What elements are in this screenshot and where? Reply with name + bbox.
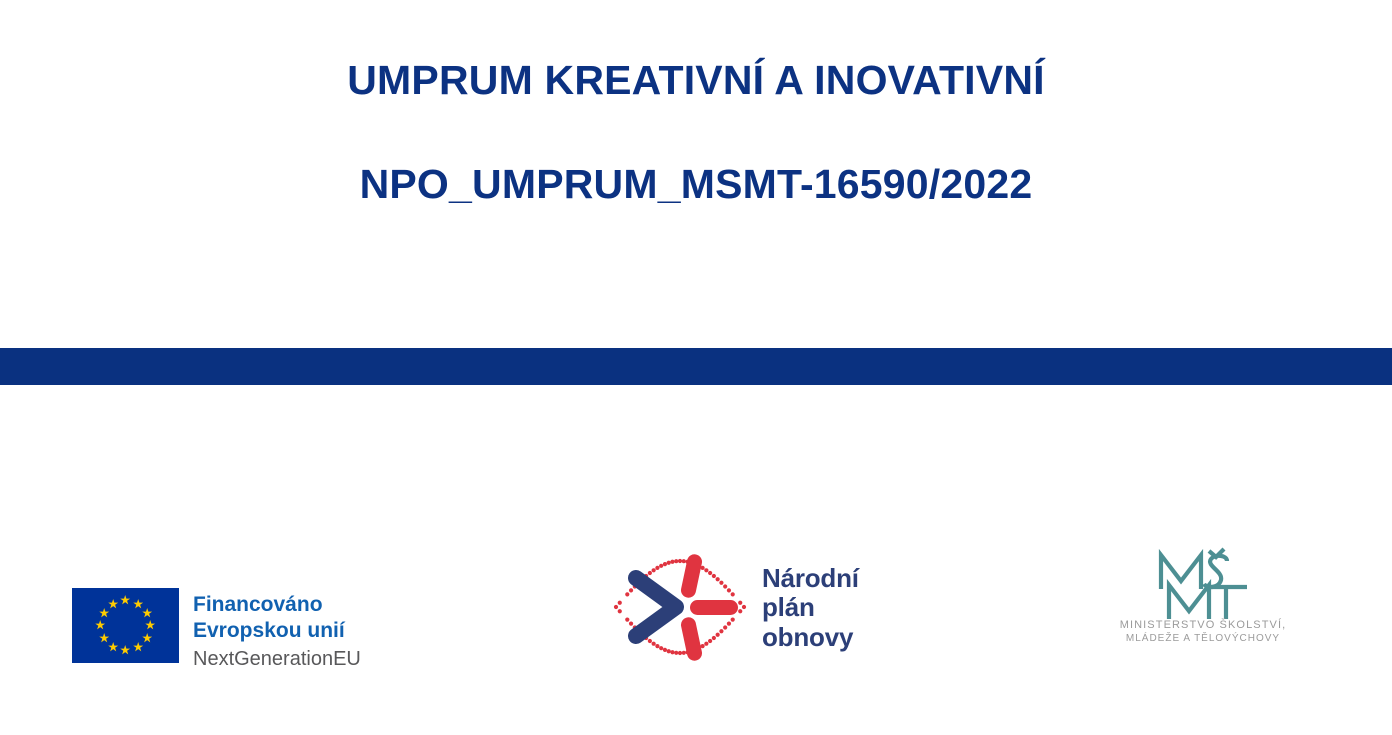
- eu-star: [95, 620, 105, 630]
- divider-band: [0, 348, 1392, 385]
- npo-text-line-2: plán: [762, 593, 859, 623]
- eu-star: [133, 642, 143, 652]
- eu-funding-logo: Financováno Evropskou unií NextGeneratio…: [72, 588, 361, 672]
- eu-star: [99, 608, 109, 618]
- eu-star: [120, 645, 130, 655]
- eu-flag-icon: [72, 588, 179, 663]
- eu-logo-text: Financováno Evropskou unií NextGeneratio…: [193, 588, 361, 672]
- eu-text-line-1: Financováno: [193, 592, 361, 618]
- eu-star: [142, 633, 152, 643]
- narodni-plan-obnovy-logo: Národní plán obnovy: [608, 548, 859, 668]
- logo-strip: Financováno Evropskou unií NextGeneratio…: [0, 520, 1392, 700]
- eu-text-line-3: NextGenerationEU: [193, 646, 361, 672]
- eu-star: [108, 599, 118, 609]
- eu-star: [99, 633, 109, 643]
- npo-text-line-1: Národní: [762, 564, 859, 594]
- project-code-subtitle: NPO_UMPRUM_MSMT-16590/2022: [0, 162, 1392, 207]
- msmt-subtitle-line-1: MINISTERSTVO ŠKOLSTVÍ,: [1117, 619, 1289, 633]
- eu-text-line-2: Evropskou unií: [193, 618, 361, 644]
- eu-star: [145, 620, 155, 630]
- npo-text-line-3: obnovy: [762, 623, 859, 653]
- msmt-ministry-logo: MINISTERSTVO ŠKOLSTVÍ, MLÁDEŽE A TĚLOVÝC…: [1117, 547, 1289, 645]
- npo-mark-icon: [608, 548, 758, 668]
- page-title: UMPRUM KREATIVNÍ A INOVATIVNÍ: [0, 58, 1392, 103]
- eu-star: [108, 642, 118, 652]
- msmt-monogram-icon: [1143, 547, 1263, 619]
- npo-logo-text: Národní plán obnovy: [762, 564, 859, 653]
- eu-star: [142, 608, 152, 618]
- eu-star: [120, 595, 130, 605]
- msmt-subtitle-line-2: MLÁDEŽE A TĚLOVÝCHOVY: [1117, 633, 1289, 646]
- slide-canvas: { "slide": { "title": "UMPRUM KREATIVNÍ …: [0, 0, 1392, 735]
